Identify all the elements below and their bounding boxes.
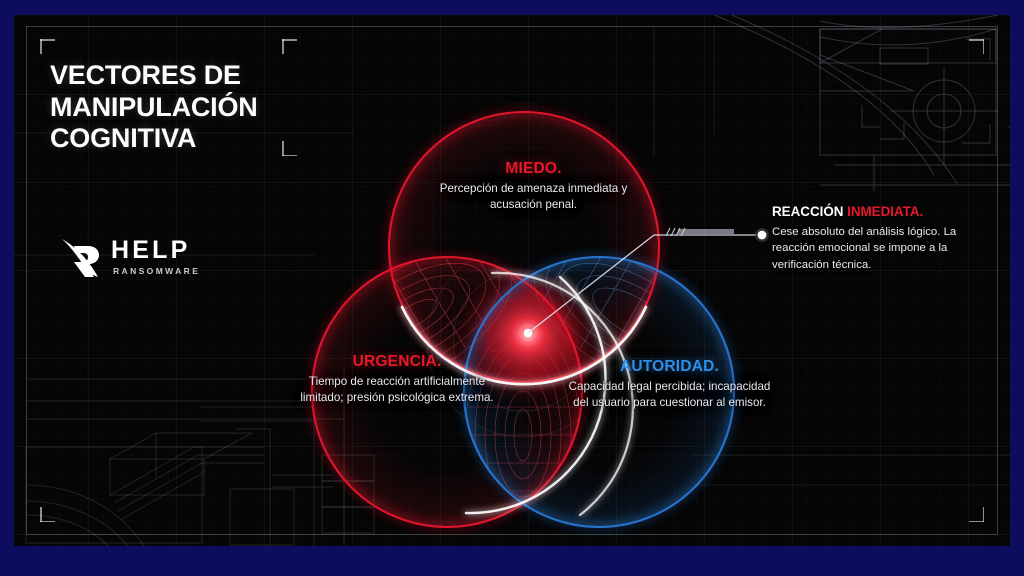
callout-title-red: INMEDIATA. xyxy=(847,204,923,219)
vector-body-autoridad: Capacidad legal percibida; incapacidad d… xyxy=(562,379,777,412)
callout-end-node xyxy=(758,231,767,240)
callout-title-white: REACCIÓN xyxy=(772,204,847,219)
vector-head-miedo: MIEDO. xyxy=(426,160,641,179)
callout-title: REACCIÓN INMEDIATA. xyxy=(772,204,994,221)
vector-body-urgencia: Tiempo de reacción artificialmente limit… xyxy=(292,374,502,407)
callout-reaccion-inmediata: REACCIÓN INMEDIATA. Cese absoluto del an… xyxy=(772,204,994,273)
vector-block-urgencia: URGENCIA. Tiempo de reacción artificialm… xyxy=(292,353,502,407)
brand-logo[interactable]: HELP RANSOMWARE xyxy=(58,233,200,281)
logo-main-text: HELP xyxy=(111,238,200,263)
slide-stage: VECTORES DE MANIPULACIÓN COGNITIVA HELP … xyxy=(14,15,1010,546)
vector-head-autoridad: AUTORIDAD. xyxy=(562,358,777,377)
callout-body: Cese absoluto del análisis lógico. La re… xyxy=(772,224,994,273)
logo-sub-text: RANSOMWARE xyxy=(113,267,200,276)
vector-body-miedo: Percepción de amenaza inmediata y acusac… xyxy=(426,181,641,214)
vector-block-miedo: MIEDO. Percepción de amenaza inmediata y… xyxy=(426,160,641,214)
vector-head-urgencia: URGENCIA. xyxy=(292,353,502,372)
page-title: VECTORES DE MANIPULACIÓN COGNITIVA xyxy=(50,60,258,155)
slide-root: VECTORES DE MANIPULACIÓN COGNITIVA HELP … xyxy=(0,0,1024,576)
vector-block-autoridad: AUTORIDAD. Capacidad legal percibida; in… xyxy=(562,358,777,412)
stylized-r-icon xyxy=(58,233,106,281)
